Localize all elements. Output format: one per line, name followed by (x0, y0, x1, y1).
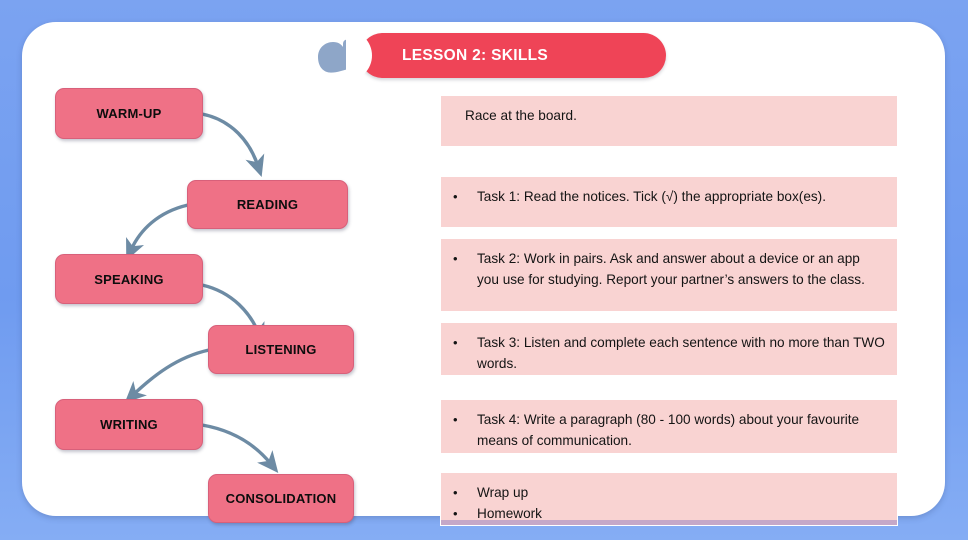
content-bullet-item: • Task 4: Write a paragraph (80 - 100 wo… (453, 409, 885, 451)
slide-canvas: LESSON 2: SKILLS WARM-UP READING SPEAKIN… (0, 0, 968, 540)
bullet-icon: • (453, 332, 477, 353)
flow-step-warm-up[interactable]: WARM-UP (55, 88, 203, 139)
content-block-speaking[interactable]: • Task 2: Work in pairs. Ask and answer … (441, 239, 897, 311)
flow-step-label: LISTENING (245, 342, 316, 357)
lesson-banner[interactable]: LESSON 2: SKILLS (316, 30, 668, 82)
banner-pill: LESSON 2: SKILLS (360, 33, 666, 78)
content-block-consolidation[interactable]: • Wrap up • Homework (441, 473, 897, 525)
banner-notch (346, 30, 372, 81)
content-bullet-item: • Task 1: Read the notices. Tick (√) the… (453, 186, 885, 207)
content-block-reading[interactable]: • Task 1: Read the notices. Tick (√) the… (441, 177, 897, 227)
content-text: Wrap up (477, 482, 885, 503)
flow-step-label: READING (237, 197, 298, 212)
bullet-icon: • (453, 409, 477, 430)
content-text: Task 3: Listen and complete each sentenc… (477, 332, 885, 374)
content-block-writing[interactable]: • Task 4: Write a paragraph (80 - 100 wo… (441, 400, 897, 453)
flow-step-label: WRITING (100, 417, 158, 432)
content-text: Race at the board. (453, 105, 885, 126)
bullet-icon: • (453, 248, 477, 269)
flow-step-label: WARM-UP (97, 106, 162, 121)
content-text: Task 4: Write a paragraph (80 - 100 word… (477, 409, 885, 451)
content-block-warm-up[interactable]: Race at the board. (441, 96, 897, 146)
banner-title: LESSON 2: SKILLS (402, 33, 548, 78)
bullet-icon: • (453, 482, 477, 503)
content-bullet-item: • Homework (453, 503, 885, 524)
content-text: Task 1: Read the notices. Tick (√) the a… (477, 186, 885, 207)
flow-step-consolidation[interactable]: CONSOLIDATION (208, 474, 354, 523)
bullet-icon: • (453, 503, 477, 524)
flow-step-label: SPEAKING (94, 272, 164, 287)
flow-step-listening[interactable]: LISTENING (208, 325, 354, 374)
bullet-icon: • (453, 186, 477, 207)
content-bullet-item: • Task 3: Listen and complete each sente… (453, 332, 885, 374)
content-bullet-item: • Wrap up (453, 482, 885, 503)
flow-step-speaking[interactable]: SPEAKING (55, 254, 203, 304)
flow-step-writing[interactable]: WRITING (55, 399, 203, 450)
content-text: Task 2: Work in pairs. Ask and answer ab… (477, 248, 885, 290)
content-bullet-item: • Task 2: Work in pairs. Ask and answer … (453, 248, 885, 290)
content-text: Homework (477, 503, 885, 524)
flow-step-reading[interactable]: READING (187, 180, 348, 229)
flow-step-label: CONSOLIDATION (226, 491, 337, 506)
content-block-listening[interactable]: • Task 3: Listen and complete each sente… (441, 323, 897, 375)
